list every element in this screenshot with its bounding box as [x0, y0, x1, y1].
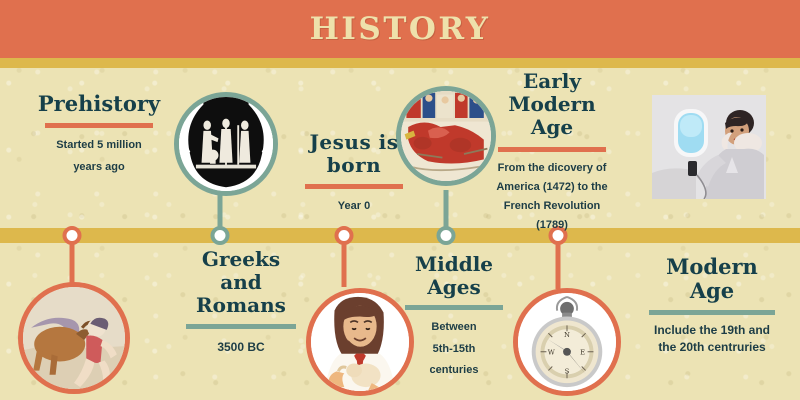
desc-line: From the dicovery of [478, 159, 626, 178]
entry-underline [498, 147, 606, 152]
media-greek-vase [174, 92, 278, 196]
desc-line: (1789) [478, 216, 626, 235]
entry-middle-ages: Middle Ages Between 5th-15th centuries [390, 253, 518, 382]
title-line: Age [478, 116, 626, 139]
title-line: Modern [478, 93, 626, 116]
title-line: Middle [390, 253, 518, 276]
entry-title: Prehistory [18, 92, 180, 116]
title-line: Jesus is [283, 131, 425, 154]
entry-description: 3500 BC [162, 336, 320, 359]
header-banner: HISTORY [0, 0, 800, 58]
desc-line: the 20th centruries [628, 339, 796, 356]
greek-vase-art [179, 97, 273, 191]
title-line: Modern [628, 255, 796, 279]
entry-jesus-is-born: Jesus is born Year 0 [283, 131, 425, 218]
title-line: born [283, 154, 425, 177]
media-compass: N E S W [513, 288, 621, 396]
pin-knob [334, 226, 353, 245]
title-line: Greeks [162, 248, 320, 271]
title-line: Age [628, 279, 796, 303]
desc-line: years ago [18, 157, 180, 178]
timeline-pin-jesus [334, 226, 353, 286]
desc-line: French Revolution [478, 197, 626, 216]
compass-label-n: N [564, 331, 570, 339]
title-line: Early [478, 70, 626, 93]
entry-description: Started 5 million years ago [18, 135, 180, 178]
compass-label-e: E [580, 349, 585, 357]
entry-underline [186, 324, 296, 329]
pin-knob [210, 226, 229, 245]
timeline-pin-early-modern [436, 226, 455, 250]
entry-title: Modern Age [628, 255, 796, 304]
media-cave-painting [18, 282, 130, 394]
pin-knob [62, 226, 81, 245]
pin-knob [436, 226, 455, 245]
title-line: and [162, 271, 320, 294]
title-line: Romans [162, 294, 320, 317]
entry-description: Between 5th-15th centuries [390, 317, 518, 381]
desc-line: Between [390, 317, 518, 338]
entry-title: Greeks and Romans [162, 248, 320, 318]
entry-underline [305, 184, 403, 189]
compass-label-w: W [548, 349, 556, 357]
compass-art: N E S W [518, 293, 616, 391]
desc-line: America (1472) to the [478, 178, 626, 197]
timeline-axis [0, 228, 800, 243]
compass-label-s: S [565, 367, 570, 375]
header-gold-rule [0, 58, 800, 68]
desc-line: centuries [390, 360, 518, 381]
desc-line: 5th-15th [390, 339, 518, 360]
entry-modern-age: Modern Age Include the 19th and the 20th… [628, 255, 796, 355]
desc-line: Started 5 million [18, 135, 180, 156]
entry-early-modern-age: Early Modern Age From the dicovery of Am… [478, 70, 626, 236]
desc-line: Include the 19th and [628, 322, 796, 339]
entry-greeks-and-romans: Greeks and Romans 3500 BC [162, 248, 320, 359]
entry-title: Middle Ages [390, 253, 518, 299]
entry-description: Include the 19th and the 20th centruries [628, 322, 796, 356]
entry-title: Early Modern Age [478, 70, 626, 140]
cave-painting-art [23, 287, 125, 389]
entry-underline [649, 310, 775, 315]
entry-description: From the dicovery of America (1472) to t… [478, 159, 626, 236]
history-timeline-infographic: HISTORY [0, 0, 800, 400]
entry-description: Year 0 [283, 196, 425, 217]
entry-title: Jesus is born [283, 131, 425, 177]
page-title: HISTORY [310, 11, 491, 47]
airplane-selfie-art [652, 95, 766, 199]
title-line: Ages [390, 276, 518, 299]
media-airplane-selfie [652, 95, 766, 199]
entry-underline [45, 123, 153, 128]
entry-underline [405, 305, 503, 310]
entry-prehistory: Prehistory Started 5 million years ago [18, 92, 180, 178]
